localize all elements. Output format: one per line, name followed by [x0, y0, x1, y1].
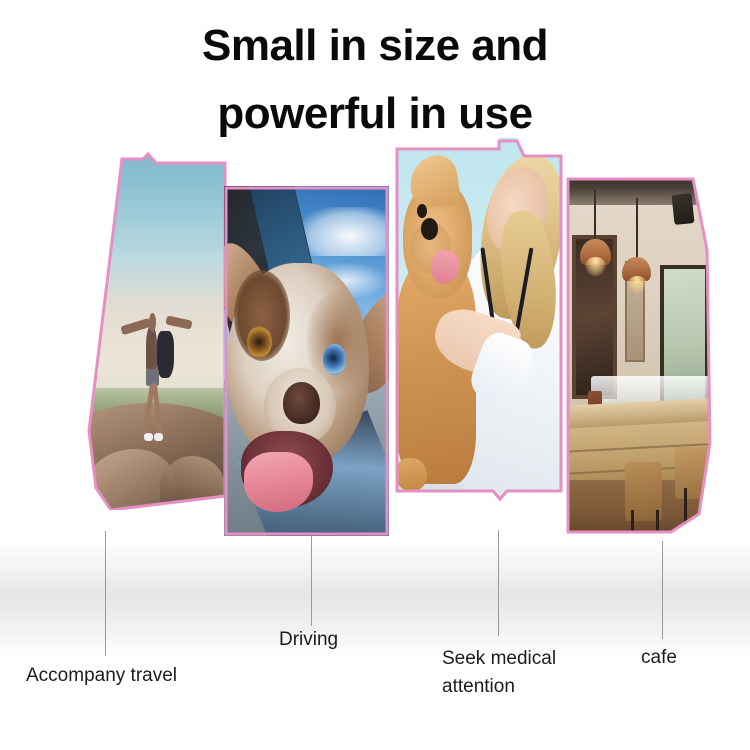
hiker-backpack	[157, 331, 174, 378]
hiker-left-shoe	[144, 433, 153, 441]
rock-detail-right	[160, 456, 224, 503]
image-collage	[0, 0, 750, 560]
caption-accompany-travel: Accompany travel	[26, 662, 177, 690]
caption-seek-medical-attention: Seek medical attention	[442, 645, 556, 700]
bar-stool-back-leg-1	[684, 488, 687, 533]
pendant-lamp-1-glow	[585, 257, 607, 276]
collage-panel-seek-medical-attention[interactable]	[393, 138, 565, 502]
leader-line-accompany-travel	[105, 531, 106, 656]
dog-nose	[421, 218, 438, 240]
pendant-lamp-2-glow	[627, 276, 647, 293]
hiker-right-shoe	[154, 433, 163, 441]
leader-line-cafe	[662, 541, 663, 639]
hiker-torso	[146, 327, 157, 374]
leader-line-driving	[311, 536, 312, 626]
cafe-ceiling	[563, 168, 718, 205]
bar-stool-front-leg-2	[656, 510, 659, 540]
pendant-lamp-2-cord	[636, 198, 638, 261]
bar-stool-front-leg-1	[631, 510, 634, 540]
collage-panel-cafe[interactable]	[563, 168, 718, 540]
dog-left-eye	[247, 326, 272, 358]
bar-stool-back-leg-2	[707, 488, 710, 533]
caption-cafe: cafe	[641, 644, 677, 672]
bar-stool-back	[675, 447, 715, 499]
poster-canvas: Small in size and powerful in use	[0, 0, 750, 750]
photo-cafe-interior	[563, 168, 718, 540]
photo-vet-with-dog	[393, 138, 565, 502]
ceiling-speaker	[672, 193, 695, 225]
pendant-lamp-1-cord	[594, 190, 596, 242]
leader-line-seek-medical-attention	[498, 530, 499, 636]
collage-panel-accompany-travel[interactable]	[78, 152, 230, 510]
photo-dog-in-car-window	[224, 186, 389, 536]
photo-hiker-on-summit	[78, 152, 230, 510]
cloud-upper	[300, 207, 389, 256]
dog-front-paw	[396, 458, 427, 491]
dog-nose	[283, 382, 319, 424]
dog-tongue	[244, 452, 313, 512]
dog-right-eye-blue	[323, 344, 346, 376]
caption-driving: Driving	[279, 626, 338, 654]
collage-panel-driving[interactable]	[224, 186, 389, 536]
hiker-head	[149, 313, 157, 332]
